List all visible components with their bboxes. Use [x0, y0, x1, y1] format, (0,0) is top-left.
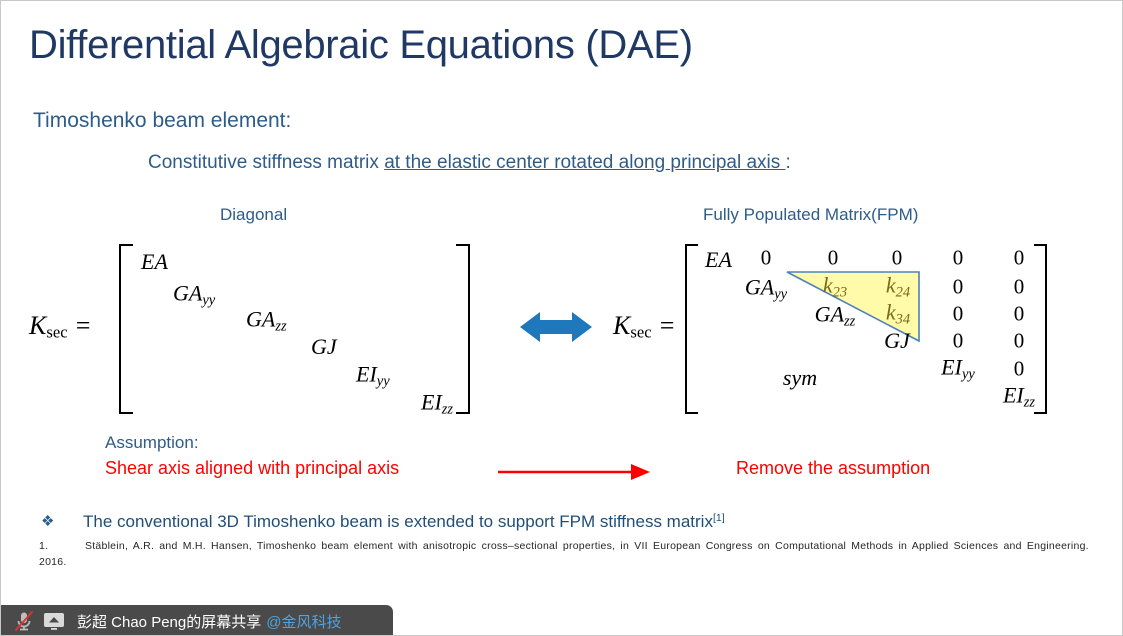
- left-matrix-open-bracket: [119, 244, 133, 414]
- fpm-cell-1-1: EA: [705, 247, 732, 273]
- right-matrix-close-bracket: [1034, 244, 1047, 414]
- fpm-cell-4-4: GJ: [884, 328, 910, 354]
- constitutive-suffix: :: [786, 152, 791, 173]
- reference-text: Stäblein, A.R. and M.H. Hansen, Timoshen…: [39, 540, 1089, 568]
- remove-assumption-text: Remove the assumption: [736, 458, 930, 479]
- matrix-cell-6-6: EIzz: [421, 390, 453, 419]
- diamond-bullet-icon: ❖: [41, 512, 83, 530]
- subheading-timoshenko: Timoshenko beam element:: [33, 109, 291, 133]
- screen-share-status-bar: 彭超 Chao Peng的屏幕共享 @金风科技: [1, 605, 393, 636]
- fpm-cell-5-6: 0: [1014, 357, 1025, 382]
- fpm-cell-1-3: 0: [828, 246, 839, 271]
- fpm-cell-6-6: EIzz: [1003, 383, 1035, 412]
- bullet-point-text: The conventional 3D Timoshenko beam is e…: [83, 512, 725, 531]
- fpm-cell-3-6: 0: [1014, 302, 1025, 327]
- bullet-main-text: The conventional 3D Timoshenko beam is e…: [83, 512, 713, 531]
- fpm-cell-3-3: GAzz: [815, 302, 856, 331]
- matrix-cell-3-3: GAzz: [246, 307, 287, 336]
- caption-fully-populated-matrix: Fully Populated Matrix(FPM): [703, 205, 918, 225]
- microphone-muted-icon[interactable]: [11, 609, 37, 633]
- fpm-cell-2-6: 0: [1014, 275, 1025, 300]
- fpm-cell-3-5: 0: [953, 302, 964, 327]
- caption-diagonal: Diagonal: [220, 205, 287, 225]
- left-matrix-label: Ksec =: [29, 311, 92, 343]
- matrix-cell-5-5: EIyy: [356, 362, 390, 391]
- fpm-cell-1-2: 0: [761, 246, 772, 271]
- constitutive-underlined: at the elastic center rotated along prin…: [384, 152, 785, 173]
- share-handle-text: @金风科技: [266, 611, 341, 632]
- assumption-text: Shear axis aligned with principal axis: [105, 458, 399, 479]
- fpm-cell-1-6: 0: [1014, 246, 1025, 271]
- fpm-symmetry-label: sym: [783, 365, 817, 391]
- assumption-label: Assumption:: [105, 433, 199, 453]
- matrix-cell-2-2: GAyy: [173, 281, 215, 310]
- fpm-cell-4-5: 0: [953, 329, 964, 354]
- page-title: Differential Algebraic Equations (DAE): [29, 23, 693, 68]
- left-matrix-close-bracket: [456, 244, 470, 414]
- red-arrow-icon: [498, 459, 650, 485]
- reference-number: 1.: [39, 538, 85, 554]
- fpm-cell-2-5: 0: [953, 275, 964, 300]
- screen-share-icon[interactable]: [41, 609, 67, 633]
- fpm-cell-1-5: 0: [953, 246, 964, 271]
- fpm-cell-1-4: 0: [892, 246, 903, 271]
- constitutive-matrix-line: Constitutive stiffness matrix at the ela…: [148, 152, 791, 174]
- fpm-cell-2-2: GAyy: [745, 275, 787, 304]
- matrix-cell-4-4: GJ: [311, 334, 337, 360]
- right-matrix-open-bracket: [685, 244, 698, 414]
- matrix-cell-1-1: EA: [141, 249, 168, 275]
- fpm-cell-2-3: k23: [823, 273, 847, 302]
- presentation-slide: Differential Algebraic Equations (DAE) T…: [0, 0, 1123, 636]
- bullet-superscript: [1]: [713, 512, 725, 524]
- right-matrix-label: Ksec =: [613, 311, 676, 343]
- bullet-point-row: ❖The conventional 3D Timoshenko beam is …: [41, 512, 1081, 532]
- fpm-cell-5-5: EIyy: [941, 355, 975, 384]
- reference-footnote: 1.Stäblein, A.R. and M.H. Hansen, Timosh…: [39, 538, 1101, 570]
- share-owner-text: 彭超 Chao Peng的屏幕共享: [77, 611, 261, 632]
- double-arrow-icon: [520, 307, 592, 347]
- fpm-cell-3-4: k34: [886, 300, 910, 329]
- fpm-cell-2-4: k24: [886, 273, 910, 302]
- constitutive-prefix: Constitutive stiffness matrix: [148, 152, 384, 173]
- fpm-cell-4-6: 0: [1014, 329, 1025, 354]
